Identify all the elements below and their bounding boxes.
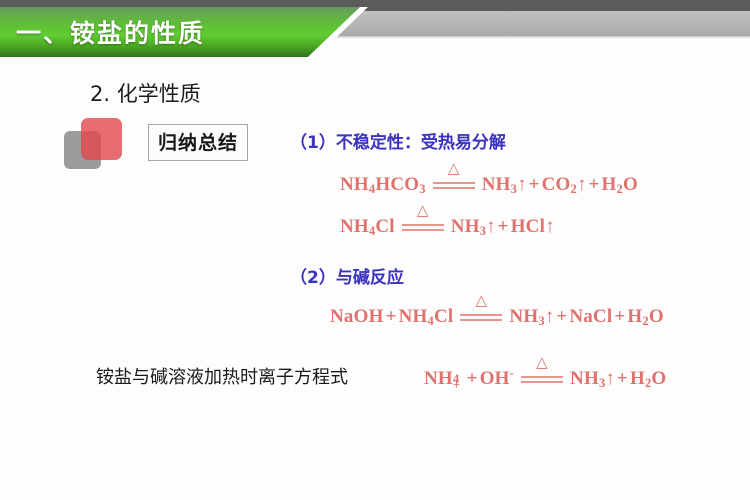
equation-operator: + [615, 368, 630, 390]
equation-species: NH4Cl [399, 306, 454, 328]
section-subheading: 2. 化学性质 [90, 78, 201, 108]
heat-triangle-icon: △ [476, 293, 488, 308]
equation-nh4hco3-decomposition: NH4HCO3△NH3↑+CO2↑+H2O [340, 174, 638, 196]
equation-operator: + [496, 216, 511, 238]
equation-species: NaCl [569, 306, 612, 328]
heading-instability: （1）不稳定性：受热易分解 [290, 128, 506, 153]
equation-operator: + [527, 174, 542, 196]
red-square-icon [81, 118, 122, 160]
gas-arrow-icon: ↑ [486, 216, 496, 237]
equation-species: HCl↑ [511, 216, 555, 238]
equals-bar-top [521, 376, 563, 378]
summary-tag-box: 归纳总结 [148, 124, 248, 161]
reaction-arrow-heated: △ [400, 216, 446, 238]
equation-species: NH3↑ [570, 368, 615, 390]
page-title: 一、铵盐的性质 [16, 14, 205, 50]
equation-species: OH- [480, 368, 514, 390]
gas-arrow-icon: ↑ [577, 174, 587, 195]
equals-bar-top [433, 182, 475, 184]
equals-bar-bottom [460, 319, 502, 321]
equation-operator: + [587, 174, 602, 196]
heat-triangle-icon: △ [448, 161, 460, 176]
equation-ionic-nh4-oh: NH+4+OH-△NH3↑+H2O [424, 368, 666, 390]
gas-arrow-icon: ↑ [545, 216, 555, 237]
equation-nh4cl-decomposition: NH4Cl△NH3↑+HCl↑ [340, 216, 555, 238]
equals-bar-bottom [521, 381, 563, 383]
slide-header: 一、铵盐的性质 [0, 0, 750, 60]
gas-arrow-icon: ↑ [545, 306, 555, 327]
equation-species: NH4Cl [340, 216, 395, 238]
gas-arrow-icon: ↑ [517, 174, 527, 195]
equation-species: CO2↑ [542, 174, 587, 196]
equation-species: H2O [602, 174, 638, 196]
equation-operator: + [554, 306, 569, 328]
reaction-arrow-heated: △ [431, 174, 477, 196]
equals-bar-top [460, 314, 502, 316]
decorative-squares [64, 118, 144, 170]
reaction-arrow-heated: △ [458, 306, 504, 328]
gas-arrow-icon: ↑ [605, 368, 615, 389]
heading-base-reaction: （2）与碱反应 [290, 263, 404, 288]
heat-triangle-icon: △ [417, 203, 429, 218]
equation-operator: + [384, 306, 399, 328]
ionic-equation-caption: 铵盐与碱溶液加热时离子方程式 [96, 363, 348, 389]
equals-bar-bottom [402, 229, 444, 231]
equation-species: H2O [627, 306, 663, 328]
equation-species: H2O [630, 368, 666, 390]
equation-species: NH+4 [424, 368, 465, 390]
equation-operator: + [612, 306, 627, 328]
slide-canvas: 一、铵盐的性质 2. 化学性质 归纳总结 （1）不稳定性：受热易分解 （2）与碱… [0, 0, 750, 500]
equation-species: NH3↑ [451, 216, 496, 238]
equals-bar-top [402, 224, 444, 226]
equation-naoh-nh4cl: NaOH+NH4Cl△NH3↑+NaCl+H2O [330, 306, 664, 328]
equation-species: NaOH [330, 306, 384, 328]
reaction-arrow-heated: △ [519, 368, 565, 390]
equation-operator: + [465, 368, 480, 390]
equation-species: HCO3 [375, 174, 425, 196]
heat-triangle-icon: △ [536, 355, 548, 370]
equation-species: NH3↑ [482, 174, 527, 196]
equals-bar-bottom [433, 187, 475, 189]
equation-species: NH3↑ [509, 306, 554, 328]
equation-species: NH4 [340, 174, 375, 196]
